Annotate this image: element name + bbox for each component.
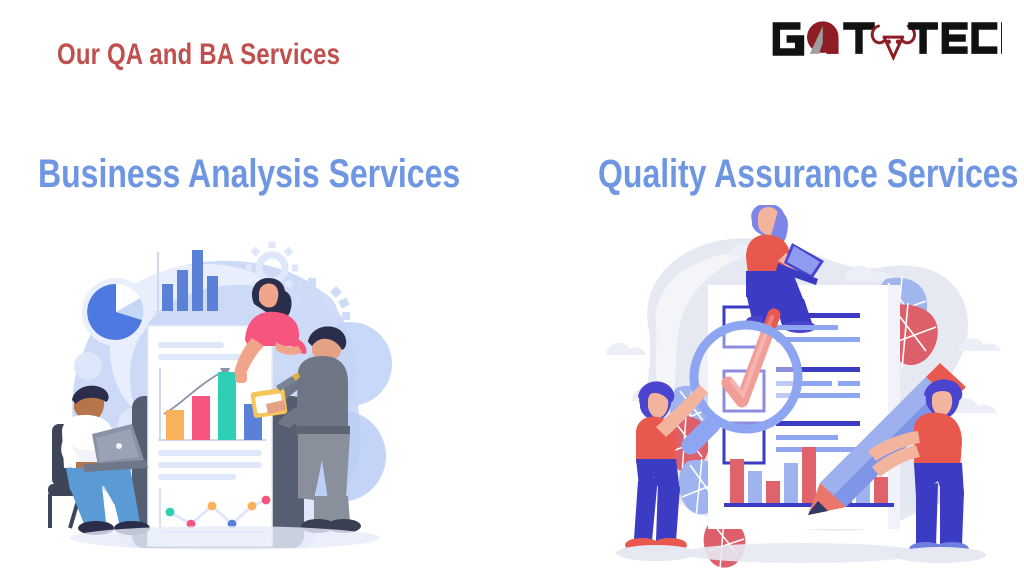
page-title: Our QA and BA Services: [57, 38, 340, 72]
quality-assurance-illustration: [596, 205, 1006, 575]
business-analysis-illustration: [40, 228, 410, 568]
pie-chart: [82, 278, 150, 346]
goat-circle-mark: [807, 21, 839, 54]
slide-root: Our QA and BA Services Business Analysis…: [0, 0, 1024, 576]
goatech-logo[interactable]: [768, 14, 1002, 64]
floor-shadow: [682, 543, 922, 563]
goat-head-icon: [872, 26, 914, 58]
column-title-business-analysis: Business Analysis Services: [38, 152, 460, 197]
floor-shadow: [70, 526, 380, 550]
column-title-quality-assurance: Quality Assurance Services: [598, 152, 1018, 197]
